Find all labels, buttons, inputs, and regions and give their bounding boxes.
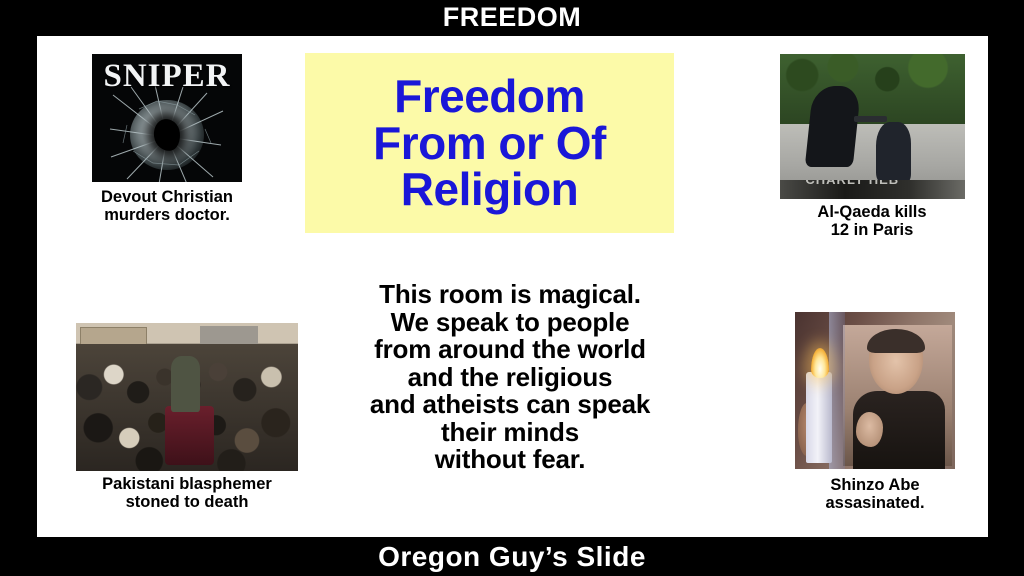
sniper-poster-image: SNIPER bbox=[92, 54, 242, 182]
body-paragraph: This room is magical. We speak to people… bbox=[305, 281, 715, 474]
main-title-text: Freedom From or Of Religion bbox=[373, 73, 606, 214]
caption-devout-christian: Devout Christian murders doctor. bbox=[67, 188, 267, 225]
abe-hand bbox=[856, 412, 883, 447]
candle-flame-icon bbox=[811, 348, 829, 378]
officer-figure bbox=[171, 356, 200, 412]
shinzo-abe-memorial-image bbox=[795, 312, 955, 469]
hedge-background bbox=[780, 54, 965, 124]
sniper-title-text: SNIPER bbox=[92, 58, 242, 95]
news-banner-strip: CHARLY HEB bbox=[780, 180, 965, 199]
slide-content-panel: SNIPER Devout Christian murders doctor. … bbox=[37, 36, 988, 537]
slide-canvas: FREEDOM bbox=[0, 0, 1024, 576]
figure-sniper: SNIPER Devout Christian murders doctor. bbox=[67, 54, 267, 225]
figure-pakistani-crowd: Pakistani blasphemer stoned to death bbox=[63, 323, 311, 512]
draped-bier bbox=[165, 406, 214, 465]
memorial-candle bbox=[806, 372, 832, 463]
rifle-shape bbox=[854, 116, 887, 122]
victim-figure bbox=[876, 122, 911, 184]
figure-paris-attack: CHARLY HEB Al-Qaeda kills 12 in Paris bbox=[772, 54, 972, 240]
slide-header-title: FREEDOM bbox=[0, 1, 1024, 35]
news-banner-text: CHARLY HEB bbox=[805, 180, 899, 187]
title-highlight-box: Freedom From or Of Religion bbox=[305, 53, 674, 233]
paris-attack-image: CHARLY HEB bbox=[780, 54, 965, 199]
building-right bbox=[200, 326, 258, 345]
pakistani-crowd-image bbox=[76, 323, 298, 471]
caption-shinzo-abe: Shinzo Abe assasinated. bbox=[770, 476, 980, 513]
caption-al-qaeda-paris: Al-Qaeda kills 12 in Paris bbox=[772, 203, 972, 240]
caption-pakistani-blasphemer: Pakistani blasphemer stoned to death bbox=[63, 475, 311, 512]
slide-footer-credit: Oregon Guy’s Slide bbox=[0, 538, 1024, 576]
figure-shinzo-abe: Shinzo Abe assasinated. bbox=[770, 312, 980, 513]
